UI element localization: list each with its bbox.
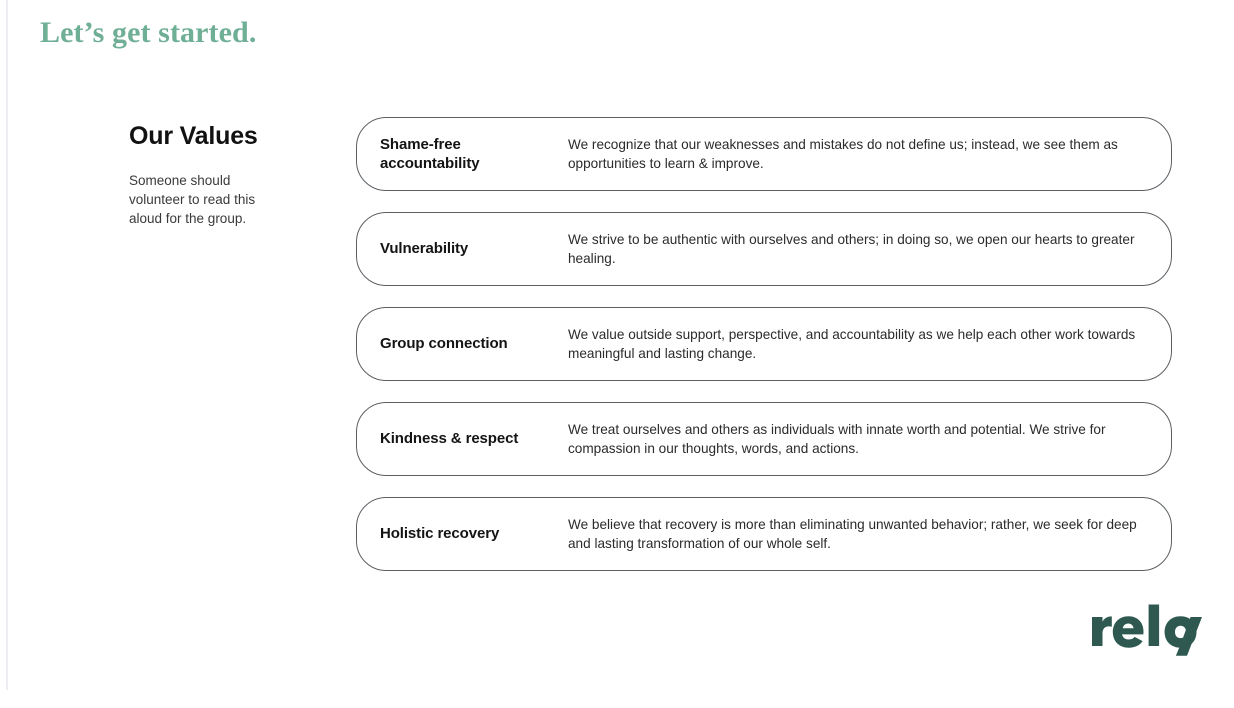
value-card-vulnerability: Vulnerability We strive to be authentic … xyxy=(356,212,1172,286)
values-instruction-note: Someone should volunteer to read this al… xyxy=(129,171,279,228)
value-card-label: Shame-free accountability xyxy=(357,135,568,173)
value-card-description: We value outside support, perspective, a… xyxy=(568,325,1171,364)
value-card-label: Vulnerability xyxy=(357,239,568,258)
slide-canvas: Let’s get started. Our Values Someone sh… xyxy=(0,0,1234,708)
value-card-description: We believe that recovery is more than el… xyxy=(568,515,1171,554)
value-card-group-connection: Group connection We value outside suppor… xyxy=(356,307,1172,381)
value-card-holistic-recovery: Holistic recovery We believe that recove… xyxy=(356,497,1172,571)
value-card-label: Holistic recovery xyxy=(357,524,568,543)
values-intro-column: Our Values Someone should volunteer to r… xyxy=(129,123,329,228)
value-card-description: We treat ourselves and others as individ… xyxy=(568,420,1171,459)
values-card-list: Shame-free accountability We recognize t… xyxy=(356,117,1172,571)
value-card-label: Group connection xyxy=(357,334,568,353)
value-card-description: We strive to be authentic with ourselves… xyxy=(568,230,1171,269)
value-card-kindness-respect: Kindness & respect We treat ourselves an… xyxy=(356,402,1172,476)
value-card-label: Kindness & respect xyxy=(357,429,568,448)
relay-wordmark-icon xyxy=(1090,604,1208,656)
value-card-shame-free-accountability: Shame-free accountability We recognize t… xyxy=(356,117,1172,191)
value-card-description: We recognize that our weaknesses and mis… xyxy=(568,135,1171,174)
slide-left-divider xyxy=(6,0,8,690)
values-heading: Our Values xyxy=(129,123,329,151)
page-title: Let’s get started. xyxy=(40,16,256,50)
relay-logo xyxy=(1090,604,1208,656)
